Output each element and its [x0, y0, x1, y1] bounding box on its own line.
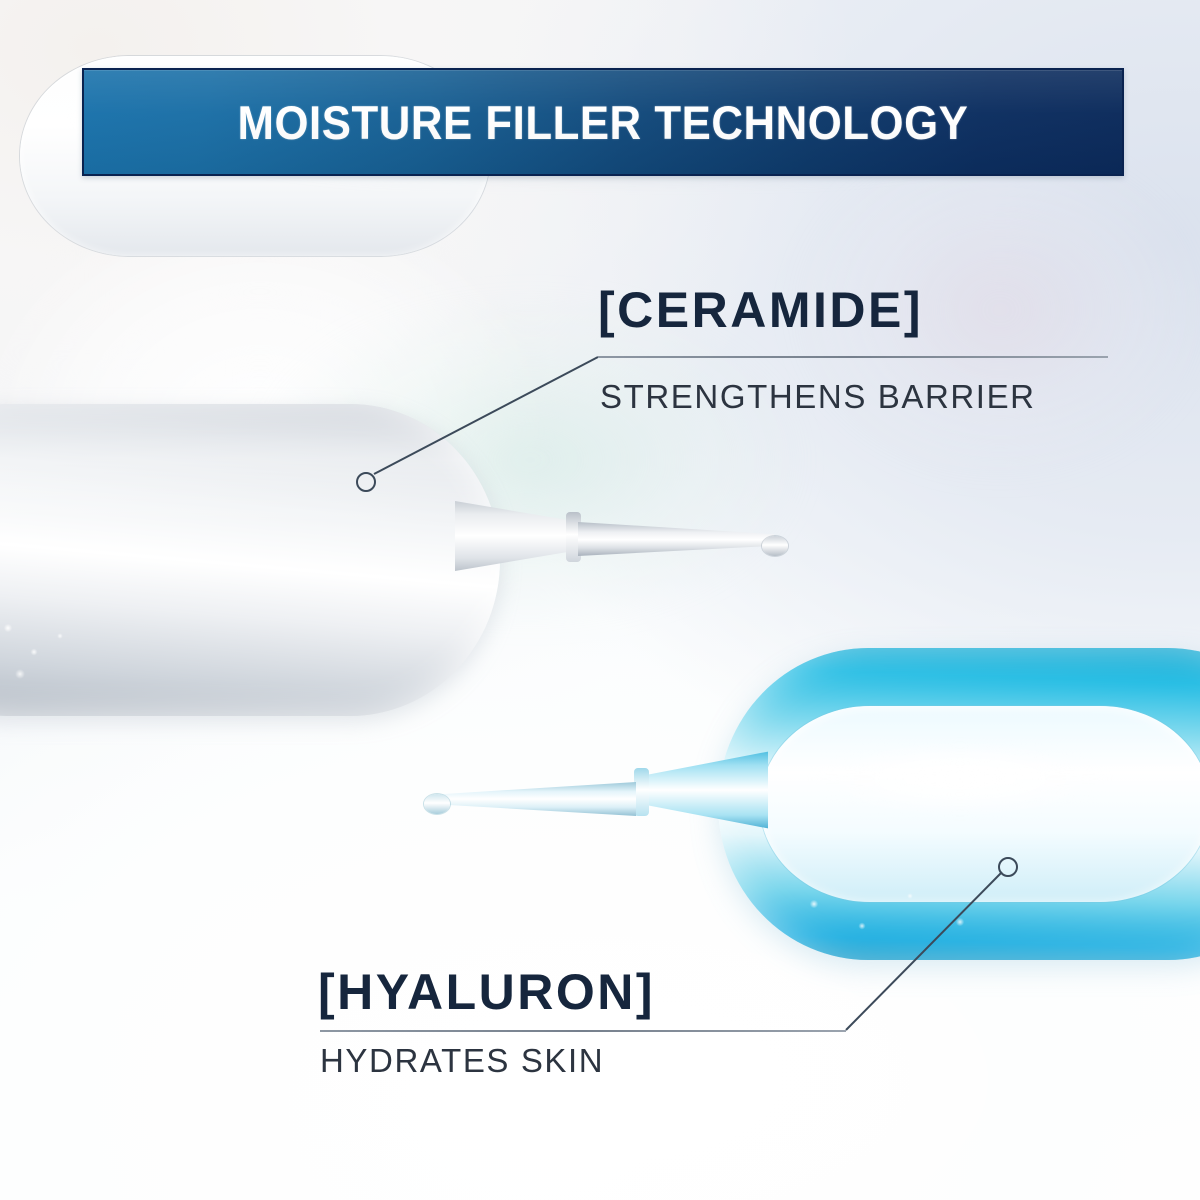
- header-banner-bar: MOISTURE FILLER TECHNOLOGY: [82, 68, 1124, 176]
- hyaluron-title: [HYALURON]: [318, 967, 655, 1017]
- ceramide-title: [CERAMIDE]: [598, 285, 923, 335]
- header-banner: MOISTURE FILLER TECHNOLOGY: [82, 68, 1124, 176]
- ceramide-leader-line: [374, 357, 598, 474]
- header-banner-title: MOISTURE FILLER TECHNOLOGY: [238, 99, 969, 146]
- ceramide-rule: [598, 356, 1108, 358]
- ceramide-marker-circle-icon: [356, 472, 376, 492]
- ceramide-subtitle: STRENGTHENS BARRIER: [600, 380, 1036, 413]
- hyaluron-leader-line: [846, 872, 1002, 1030]
- hyaluron-rule: [320, 1030, 846, 1032]
- hyaluron-marker-circle-icon: [998, 857, 1018, 877]
- product-feature-image: MOISTURE FILLER TECHNOLOGY [CERAMIDE] ST…: [0, 0, 1200, 1200]
- hyaluron-subtitle: HYDRATES SKIN: [320, 1044, 604, 1077]
